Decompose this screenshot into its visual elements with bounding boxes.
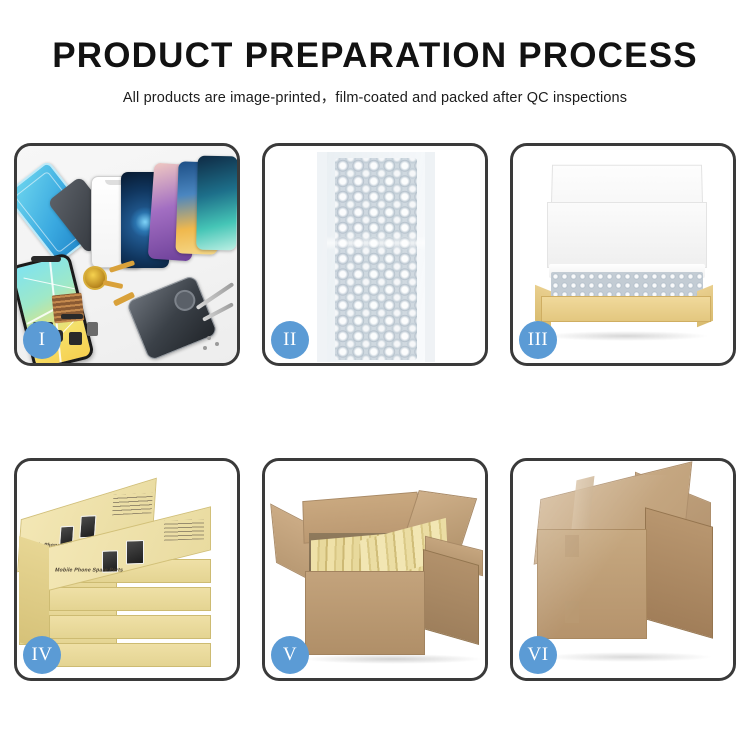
box-art-text-lines-b — [164, 519, 204, 540]
header: PRODUCT PREPARATION PROCESS All products… — [0, 0, 750, 107]
phone-teal-icon — [196, 156, 237, 251]
step-panel-4: Mobile Phone Spare Parts Mobile Phone Sp… — [14, 458, 240, 681]
product-preparation-infographic: PRODUCT PREPARATION PROCESS All products… — [0, 0, 750, 750]
stacked-box-r3 — [49, 615, 211, 639]
sealed-carton-side — [645, 507, 713, 638]
step-badge-4: IV — [23, 636, 61, 674]
step-badge-2: II — [271, 321, 309, 359]
sealed-carton-front — [537, 529, 647, 639]
stack-left-side — [19, 536, 49, 652]
step-panel-1: I — [14, 143, 240, 366]
step-badge-6: VI — [519, 636, 557, 674]
step-panel-6: VI — [510, 458, 736, 681]
box-shadow — [543, 331, 709, 341]
tape-patch-upper — [565, 535, 579, 557]
page-title: PRODUCT PREPARATION PROCESS — [0, 38, 750, 75]
box-art-screen-b2 — [126, 540, 144, 565]
page-subtitle: All products are image-printed，film-coat… — [0, 86, 750, 107]
step-panel-2: II — [262, 143, 488, 366]
box-front-panel — [541, 296, 711, 322]
bubble-wrap-pouch-icon — [317, 152, 435, 362]
stacked-box-r2 — [49, 587, 211, 611]
tape-patch-lower — [565, 601, 579, 623]
step-badge-1: I — [23, 321, 61, 359]
box-art-text-lines-a — [112, 493, 153, 515]
sealed-carton-shadow — [543, 652, 713, 662]
carton-shadow — [303, 654, 483, 664]
part-connector-icon — [31, 256, 61, 262]
part-button-icon — [69, 332, 82, 345]
part-battery-icon — [87, 322, 98, 336]
carton-body-front — [305, 571, 425, 655]
flex-cable-2-icon — [103, 280, 124, 289]
step-badge-5: V — [271, 636, 309, 674]
bubble-pattern-offset — [335, 158, 417, 360]
steps-grid: I II — [14, 143, 736, 681]
part-ribbon-icon — [61, 314, 83, 319]
step-panel-5: V — [262, 458, 488, 681]
box-label-b: Mobile Phone Spare Parts — [54, 568, 124, 574]
box-back-wall — [547, 202, 707, 268]
pouch-sheen — [327, 236, 425, 250]
step-panel-3: III — [510, 143, 736, 366]
carton-body-right — [423, 549, 479, 645]
speaker-coil-icon — [83, 266, 107, 290]
stacked-box-r4 — [49, 643, 211, 667]
step-badge-3: III — [519, 321, 557, 359]
